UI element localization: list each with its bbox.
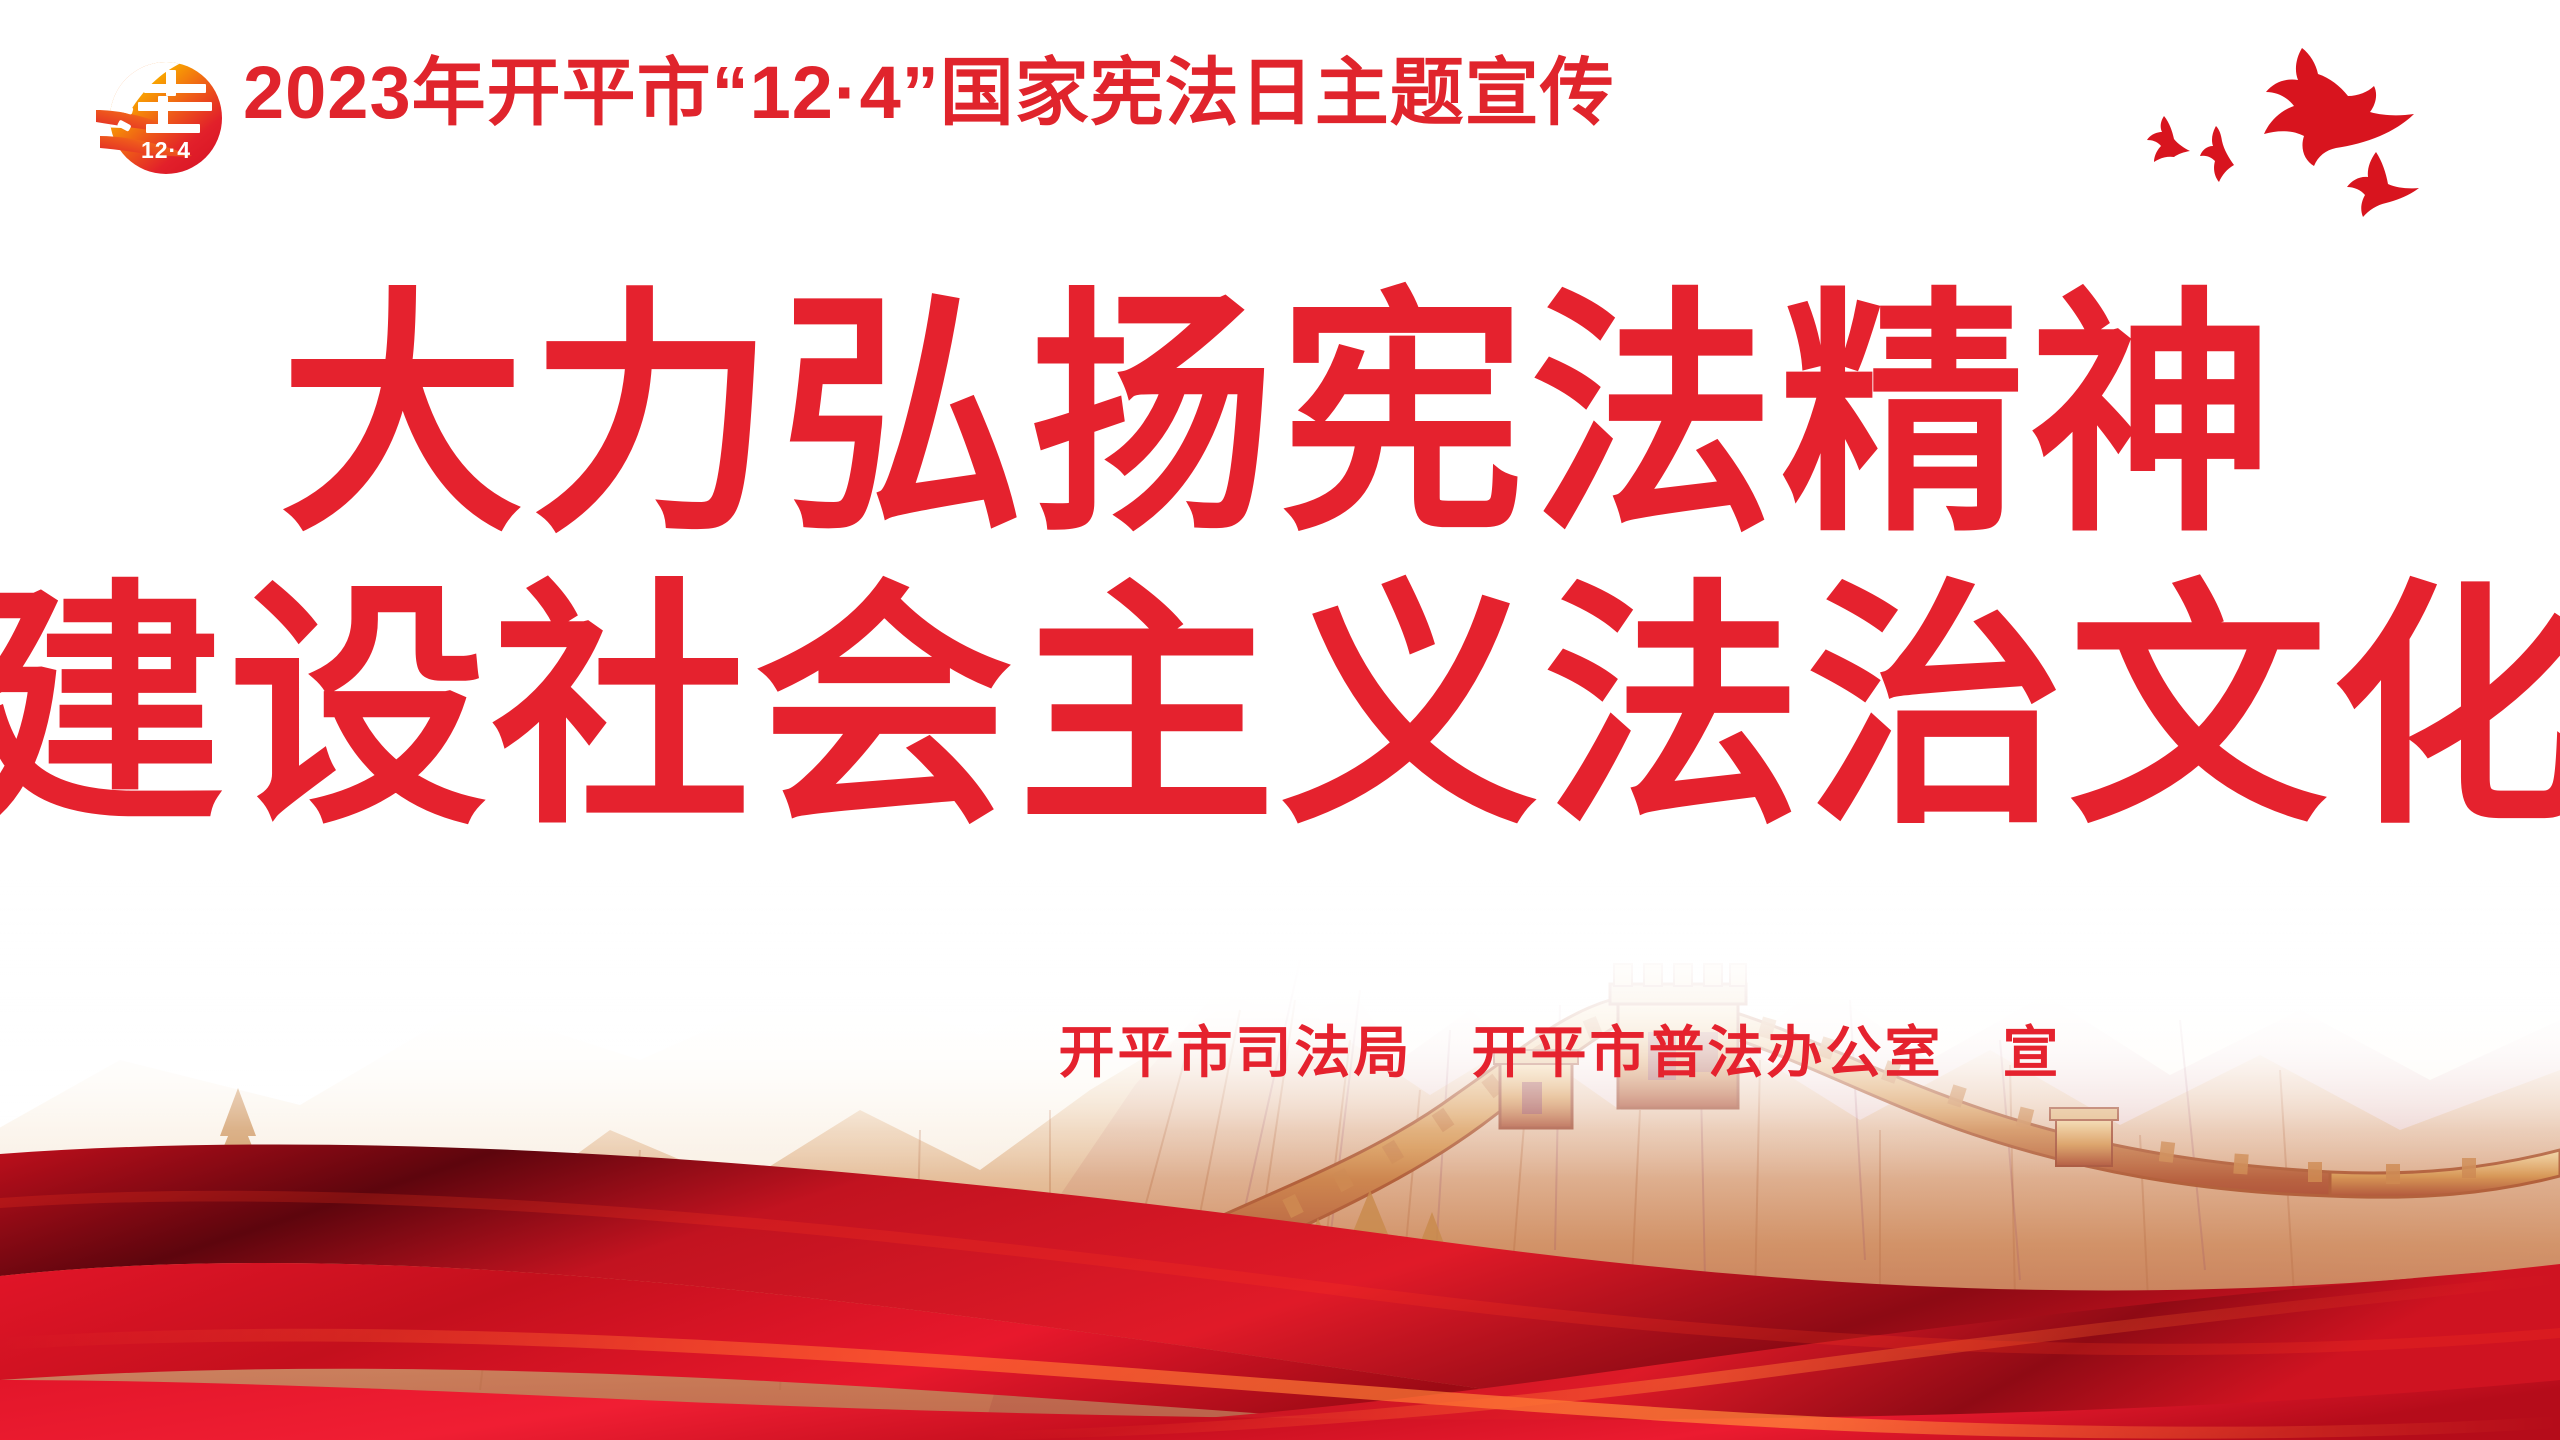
ribbon-highlight-3 (0, 1191, 2560, 1355)
poster-canvas: 12·4 2023年开平市“12·4”国家宪法日主题宣传 大力弘扬宪法精神 建设… (0, 0, 2560, 1440)
ink-wash-mountains (0, 880, 2560, 1440)
ribbon-bottom-band (0, 1380, 2560, 1440)
dove-small-mid (2200, 126, 2234, 182)
far-ridge (0, 930, 2560, 1440)
dove-small-left (2147, 116, 2190, 162)
ribbon-right-sash (980, 1136, 2560, 1432)
emblem-svg: 12·4 (88, 40, 238, 190)
headline-line-2: 建设社会主义法治文化 (0, 585, 2560, 833)
peace-doves-decoration (2114, 30, 2534, 220)
header-title: 2023年开平市“12·4”国家宪法日主题宣传 (243, 56, 1615, 130)
wall-watchtower-far (2050, 1108, 2118, 1166)
ribbon-mid-sash (0, 1263, 2560, 1440)
ribbon-highlight-1 (0, 1329, 2560, 1439)
dove-medium-right (2347, 152, 2419, 217)
dove-large (2264, 48, 2414, 166)
credit-block: 开平市司法局 开平市普法办公室 宣 (0, 1008, 2560, 1089)
poster-header: 12·4 2023年开平市“12·4”国家宪法日主题宣传 (0, 0, 2560, 190)
issuing-authority-credit: 开平市司法局 开平市普法办公室 宣 (1059, 1008, 2062, 1089)
pine-trees (214, 1088, 1448, 1296)
headline-block: 大力弘扬宪法精神 建设社会主义法治文化 (0, 300, 2560, 826)
ribbon-upper-sash (0, 1144, 2560, 1434)
constitution-day-emblem: 12·4 (88, 40, 238, 190)
wall-segment-far-right (2330, 1150, 2560, 1197)
red-silk-ribbon (0, 1080, 2560, 1440)
headline-line-1: 大力弘扬宪法精神 (0, 293, 2560, 541)
emblem-date-label: 12·4 (141, 137, 191, 163)
ribbon-highlight-2 (980, 1274, 2560, 1440)
